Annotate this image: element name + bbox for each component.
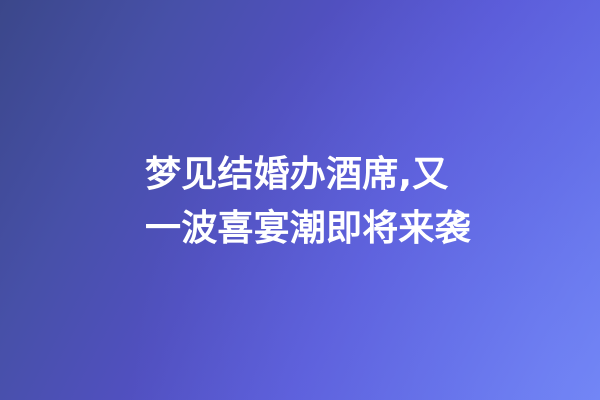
title-line-2: 一波喜宴潮即将来袭 xyxy=(145,202,576,256)
title-card: 梦见结婚办酒席,又 一波喜宴潮即将来袭 xyxy=(0,0,600,400)
title-line-1: 梦见结婚办酒席,又 xyxy=(145,148,576,202)
page-title: 梦见结婚办酒席,又 一波喜宴潮即将来袭 xyxy=(145,148,576,256)
